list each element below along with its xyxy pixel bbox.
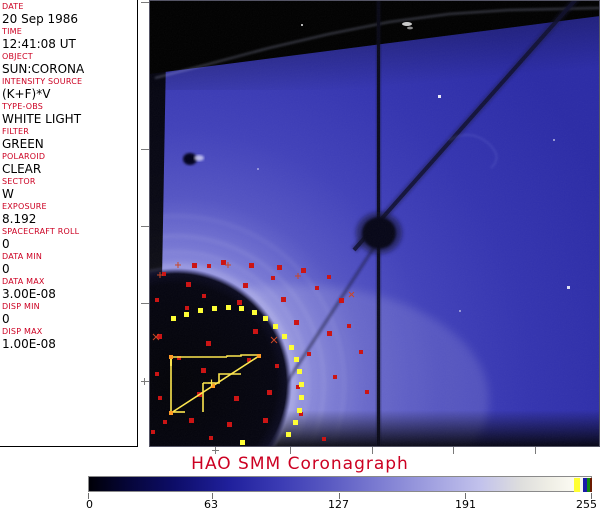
axis-tick-bottom xyxy=(535,447,536,454)
field-disp-max: DISP MAX 1.00E-08 xyxy=(2,327,137,351)
field-exposure: EXPOSURE 8.192 xyxy=(2,202,137,226)
axis-tick-left xyxy=(141,2,149,3)
field-value: 8.192 xyxy=(2,212,137,226)
field-polaroid: POLAROID CLEAR xyxy=(2,152,137,176)
field-label: SECTOR xyxy=(2,177,137,187)
field-value: GREEN xyxy=(2,137,137,151)
image-noise xyxy=(149,0,600,447)
colorbar-gradient[interactable] xyxy=(88,476,592,492)
field-data-max: DATA MAX 3.00E-08 xyxy=(2,277,137,301)
metadata-sidebar: DATE 20 Sep 1986 TIME 12:41:08 UT OBJECT… xyxy=(0,0,138,447)
field-value: 0 xyxy=(2,262,137,276)
field-spacecraft-roll: SPACECRAFT ROLL 0 xyxy=(2,227,137,251)
axis-tick-left xyxy=(141,303,149,304)
axis-tick-left xyxy=(141,226,149,227)
field-value: CLEAR xyxy=(2,162,137,176)
field-value: W xyxy=(2,187,137,201)
field-label: FILTER xyxy=(2,127,137,137)
field-value: 20 Sep 1986 xyxy=(2,12,137,26)
axis-tick-left xyxy=(141,149,149,150)
field-value: 0 xyxy=(2,237,137,251)
field-disp-min: DISP MIN 0 xyxy=(2,302,137,326)
field-intensity-source: INTENSITY SOURCE (K+F)*V xyxy=(2,77,137,101)
field-type-obs: TYPE-OBS WHITE LIGHT xyxy=(2,102,137,126)
axis-tick-bottom xyxy=(453,447,454,454)
colorbar-labels: 0 63 127 191 255 xyxy=(88,499,592,513)
colorbar-label: 127 xyxy=(328,499,349,511)
axis-tick-bottom xyxy=(372,447,373,454)
field-label: TIME xyxy=(2,27,137,37)
coronagraph-image[interactable] xyxy=(149,0,600,447)
field-label: DATE xyxy=(2,2,137,12)
field-time: TIME 12:41:08 UT xyxy=(2,27,137,51)
field-label: TYPE-OBS xyxy=(2,102,137,112)
field-data-min: DATA MIN 0 xyxy=(2,252,137,276)
field-label: DISP MAX xyxy=(2,327,137,337)
axis-tick-bottom xyxy=(290,447,291,454)
axis-crosshair-left xyxy=(141,381,149,382)
field-label: EXPOSURE xyxy=(2,202,137,212)
field-label: POLAROID xyxy=(2,152,137,162)
colorbar-label: 0 xyxy=(86,499,93,511)
field-label: OBJECT xyxy=(2,52,137,62)
colorbar-label: 63 xyxy=(204,499,218,511)
colorbar[interactable]: 0 63 127 191 255 xyxy=(88,476,592,492)
field-label: INTENSITY SOURCE xyxy=(2,77,137,87)
field-label: DATA MAX xyxy=(2,277,137,287)
field-label: DISP MIN xyxy=(2,302,137,312)
field-object: OBJECT SUN:CORONA xyxy=(2,52,137,76)
field-sector: SECTOR W xyxy=(2,177,137,201)
field-value: WHITE LIGHT xyxy=(2,112,137,126)
field-label: SPACECRAFT ROLL xyxy=(2,227,137,237)
field-value: 0 xyxy=(2,312,137,326)
field-filter: FILTER GREEN xyxy=(2,127,137,151)
field-value: 3.00E-08 xyxy=(2,287,137,301)
plot-title: HAO SMM Coronagraph xyxy=(0,455,600,474)
axis-crosshair-bottom xyxy=(215,447,216,454)
coronagraph-viewer: DATE 20 Sep 1986 TIME 12:41:08 UT OBJECT… xyxy=(0,0,600,512)
field-date: DATE 20 Sep 1986 xyxy=(2,2,137,26)
field-value: 1.00E-08 xyxy=(2,337,137,351)
colorbar-label: 255 xyxy=(576,499,597,511)
field-value: (K+F)*V xyxy=(2,87,137,101)
colorbar-mark-darkred xyxy=(590,478,592,492)
field-value: SUN:CORONA xyxy=(2,62,137,76)
field-label: DATA MIN xyxy=(2,252,137,262)
field-value: 12:41:08 UT xyxy=(2,37,137,51)
axis-crosshair-left xyxy=(144,378,145,385)
coronagraph-canvas xyxy=(149,0,600,447)
colorbar-label: 191 xyxy=(455,499,476,511)
